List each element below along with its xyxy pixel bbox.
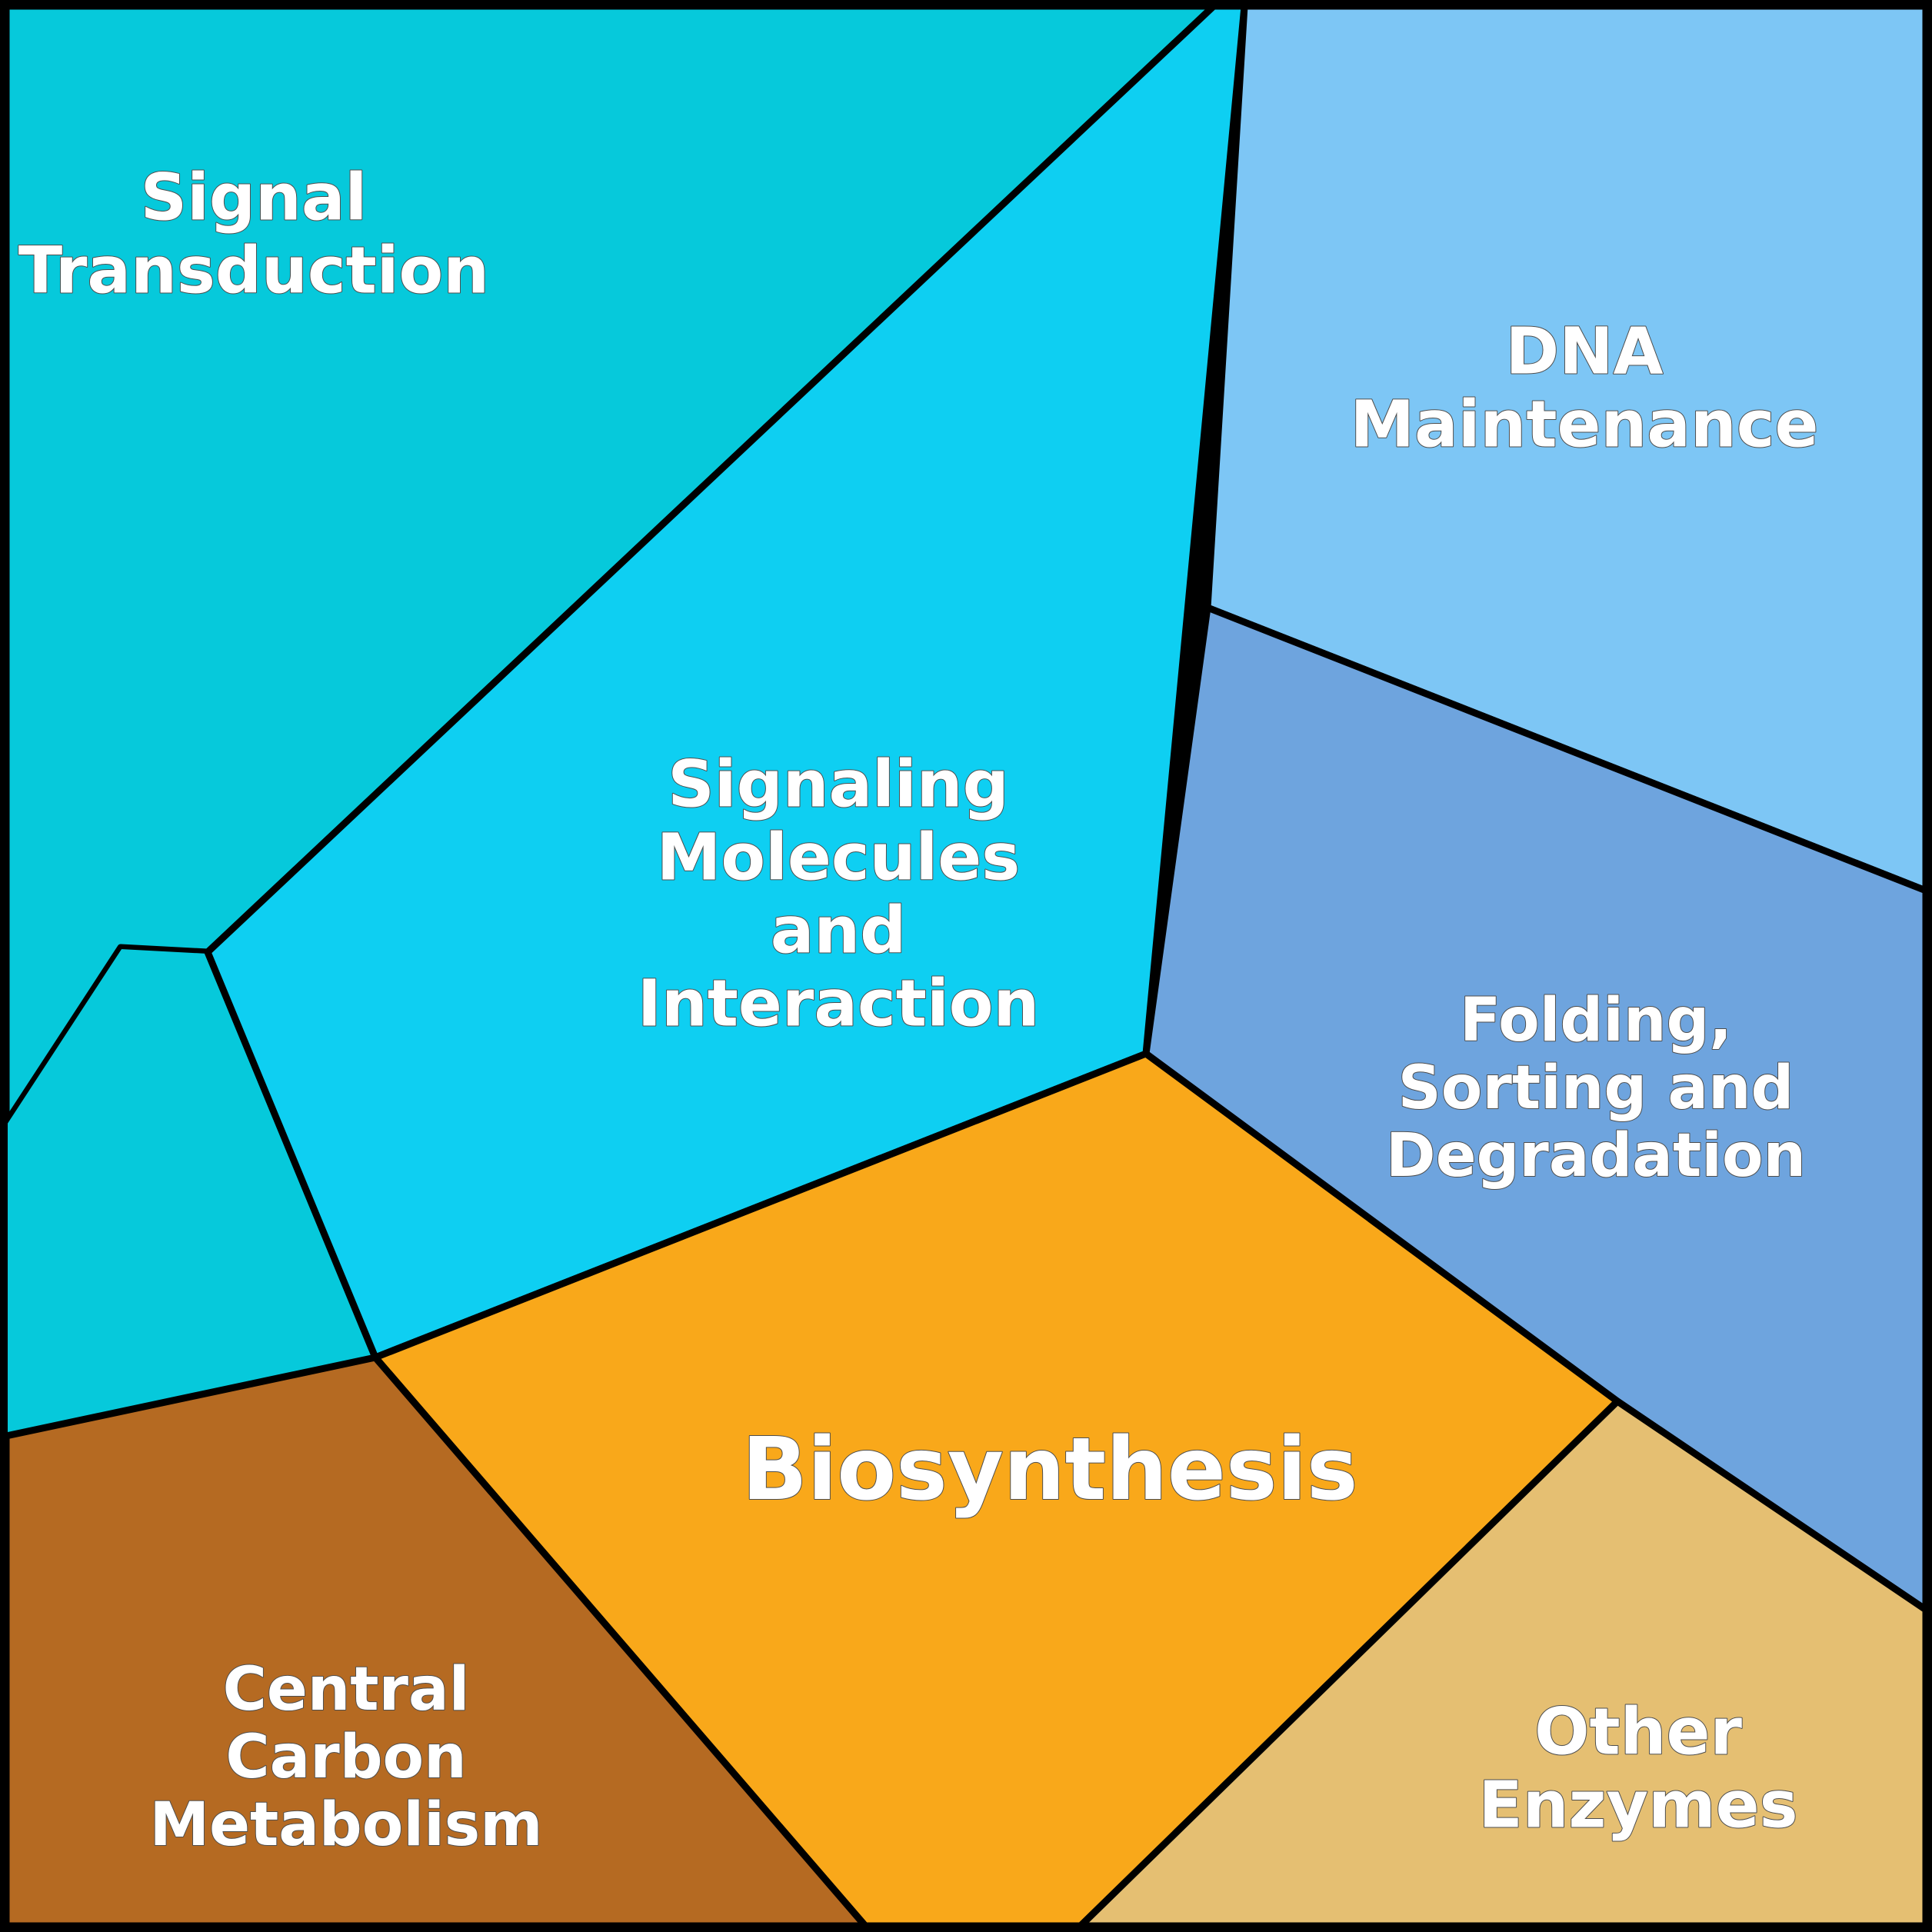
- treemap-label-line: and: [771, 892, 907, 968]
- treemap-label-line: Signal: [141, 159, 368, 235]
- treemap-label-line: Maintenance: [1350, 386, 1818, 461]
- treemap-label-line: Carbon: [225, 1723, 466, 1792]
- treemap-label-line: Signaling: [668, 746, 1008, 821]
- voronoi-treemap-figure: SignalTransductionSignalingMoleculesandI…: [0, 0, 1932, 1932]
- treemap-label-biosynthesis: Biosynthesis: [741, 1420, 1357, 1520]
- treemap-label-line: DNA: [1505, 313, 1663, 388]
- treemap-canvas: SignalTransductionSignalingMoleculesandI…: [0, 0, 1932, 1932]
- treemap-label-line: Molecules: [657, 819, 1020, 894]
- treemap-label-line: Interaction: [638, 965, 1040, 1041]
- treemap-label-line: Degradation: [1386, 1121, 1806, 1191]
- treemap-label-line: Other: [1534, 1694, 1742, 1769]
- treemap-label-line: Enzymes: [1478, 1767, 1797, 1842]
- treemap-label-line: Sorting and: [1398, 1054, 1794, 1123]
- treemap-label-line: Biosynthesis: [741, 1420, 1357, 1520]
- treemap-label-line: Metabolism: [149, 1790, 542, 1860]
- treemap-label-line: Transduction: [18, 232, 489, 308]
- treemap-label-line: Folding,: [1460, 986, 1732, 1055]
- treemap-label-line: Central: [223, 1655, 470, 1724]
- treemap-label-signaling-molecules-and-interaction: SignalingMoleculesandInteraction: [638, 746, 1040, 1041]
